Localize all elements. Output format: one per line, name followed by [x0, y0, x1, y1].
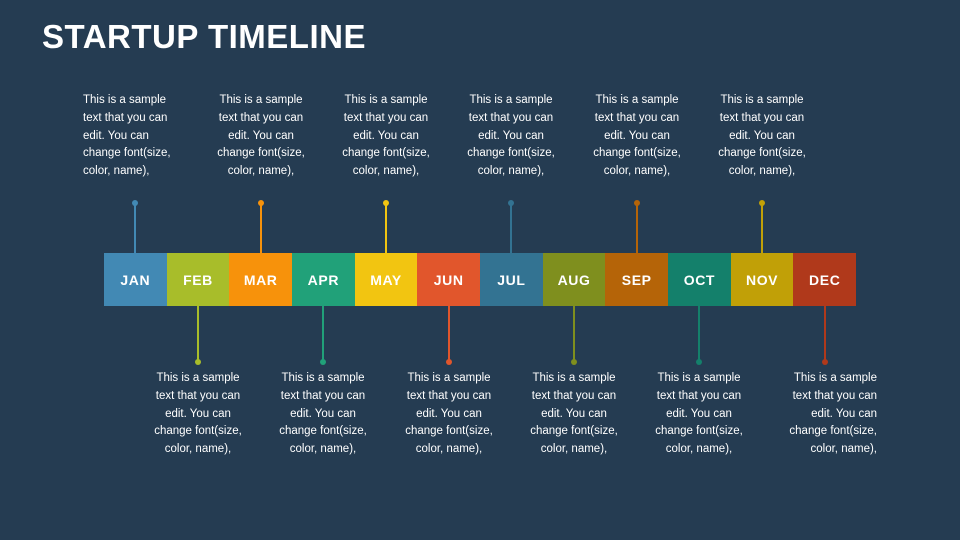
segment-label: OCT — [684, 272, 715, 288]
segment-label: DEC — [809, 272, 840, 288]
connector-dot-icon — [508, 200, 514, 206]
connector-oct — [698, 306, 700, 362]
description-jul: This is a sample text that you can edit.… — [459, 92, 563, 181]
timeline-segment-feb[interactable]: FEB — [167, 253, 230, 306]
connector-line — [197, 306, 199, 362]
segment-label: JUL — [497, 272, 525, 288]
connector-sep — [636, 203, 638, 253]
segment-label: FEB — [183, 272, 213, 288]
segment-label: NOV — [746, 272, 778, 288]
connector-dot-icon — [822, 359, 828, 365]
connector-feb — [197, 306, 199, 362]
connector-dot-icon — [696, 359, 702, 365]
connector-dot-icon — [320, 359, 326, 365]
timeline-segment-sep[interactable]: SEP — [605, 253, 668, 306]
segment-label: JUN — [434, 272, 464, 288]
description-may: This is a sample text that you can edit.… — [334, 92, 438, 181]
description-mar: This is a sample text that you can edit.… — [209, 92, 313, 181]
timeline-segment-aug[interactable]: AUG — [543, 253, 606, 306]
connector-line — [260, 203, 262, 253]
connector-jul — [510, 203, 512, 253]
connector-line — [385, 203, 387, 253]
connector-line — [636, 203, 638, 253]
description-jun: This is a sample text that you can edit.… — [397, 370, 501, 459]
description-nov: This is a sample text that you can edit.… — [710, 92, 814, 181]
connector-jan — [134, 203, 136, 253]
description-feb: This is a sample text that you can edit.… — [146, 370, 250, 459]
segment-label: MAR — [244, 272, 278, 288]
timeline-segment-oct[interactable]: OCT — [668, 253, 731, 306]
timeline-segment-jan[interactable]: JAN — [104, 253, 167, 306]
timeline-segment-nov[interactable]: NOV — [731, 253, 794, 306]
connector-jun — [448, 306, 450, 362]
connector-line — [322, 306, 324, 362]
connector-dot-icon — [195, 359, 201, 365]
connector-line — [134, 203, 136, 253]
segment-label: APR — [308, 272, 339, 288]
timeline-segment-mar[interactable]: MAR — [229, 253, 292, 306]
connector-aug — [573, 306, 575, 362]
segment-label: AUG — [558, 272, 591, 288]
connector-line — [573, 306, 575, 362]
connector-nov — [761, 203, 763, 253]
timeline-segment-dec[interactable]: DEC — [793, 253, 856, 306]
connector-may — [385, 203, 387, 253]
description-jan: This is a sample text that you can edit.… — [83, 92, 187, 181]
connector-line — [448, 306, 450, 362]
timeline-segment-may[interactable]: MAY — [355, 253, 418, 306]
connector-dot-icon — [759, 200, 765, 206]
connector-line — [824, 306, 826, 362]
connector-dot-icon — [571, 359, 577, 365]
segment-label: MAY — [370, 272, 402, 288]
timeline-segment-jun[interactable]: JUN — [417, 253, 480, 306]
connector-mar — [260, 203, 262, 253]
description-sep: This is a sample text that you can edit.… — [585, 92, 689, 181]
description-dec: This is a sample text that you can edit.… — [773, 370, 877, 459]
description-oct: This is a sample text that you can edit.… — [647, 370, 751, 459]
timeline-bar: JANFEBMARAPRMAYJUNJULAUGSEPOCTNOVDEC — [104, 253, 856, 306]
connector-dot-icon — [132, 200, 138, 206]
connector-apr — [322, 306, 324, 362]
page-title: STARTUP TIMELINE — [42, 18, 366, 56]
timeline-segment-jul[interactable]: JUL — [480, 253, 543, 306]
connector-dot-icon — [383, 200, 389, 206]
connector-line — [510, 203, 512, 253]
timeline-slide: STARTUP TIMELINE JANFEBMARAPRMAYJUNJULAU… — [0, 0, 960, 540]
connector-dec — [824, 306, 826, 362]
description-aug: This is a sample text that you can edit.… — [522, 370, 626, 459]
connector-dot-icon — [634, 200, 640, 206]
segment-label: SEP — [622, 272, 652, 288]
connector-dot-icon — [258, 200, 264, 206]
connector-dot-icon — [446, 359, 452, 365]
segment-label: JAN — [120, 272, 150, 288]
timeline-segment-apr[interactable]: APR — [292, 253, 355, 306]
description-apr: This is a sample text that you can edit.… — [271, 370, 375, 459]
connector-line — [761, 203, 763, 253]
connector-line — [698, 306, 700, 362]
